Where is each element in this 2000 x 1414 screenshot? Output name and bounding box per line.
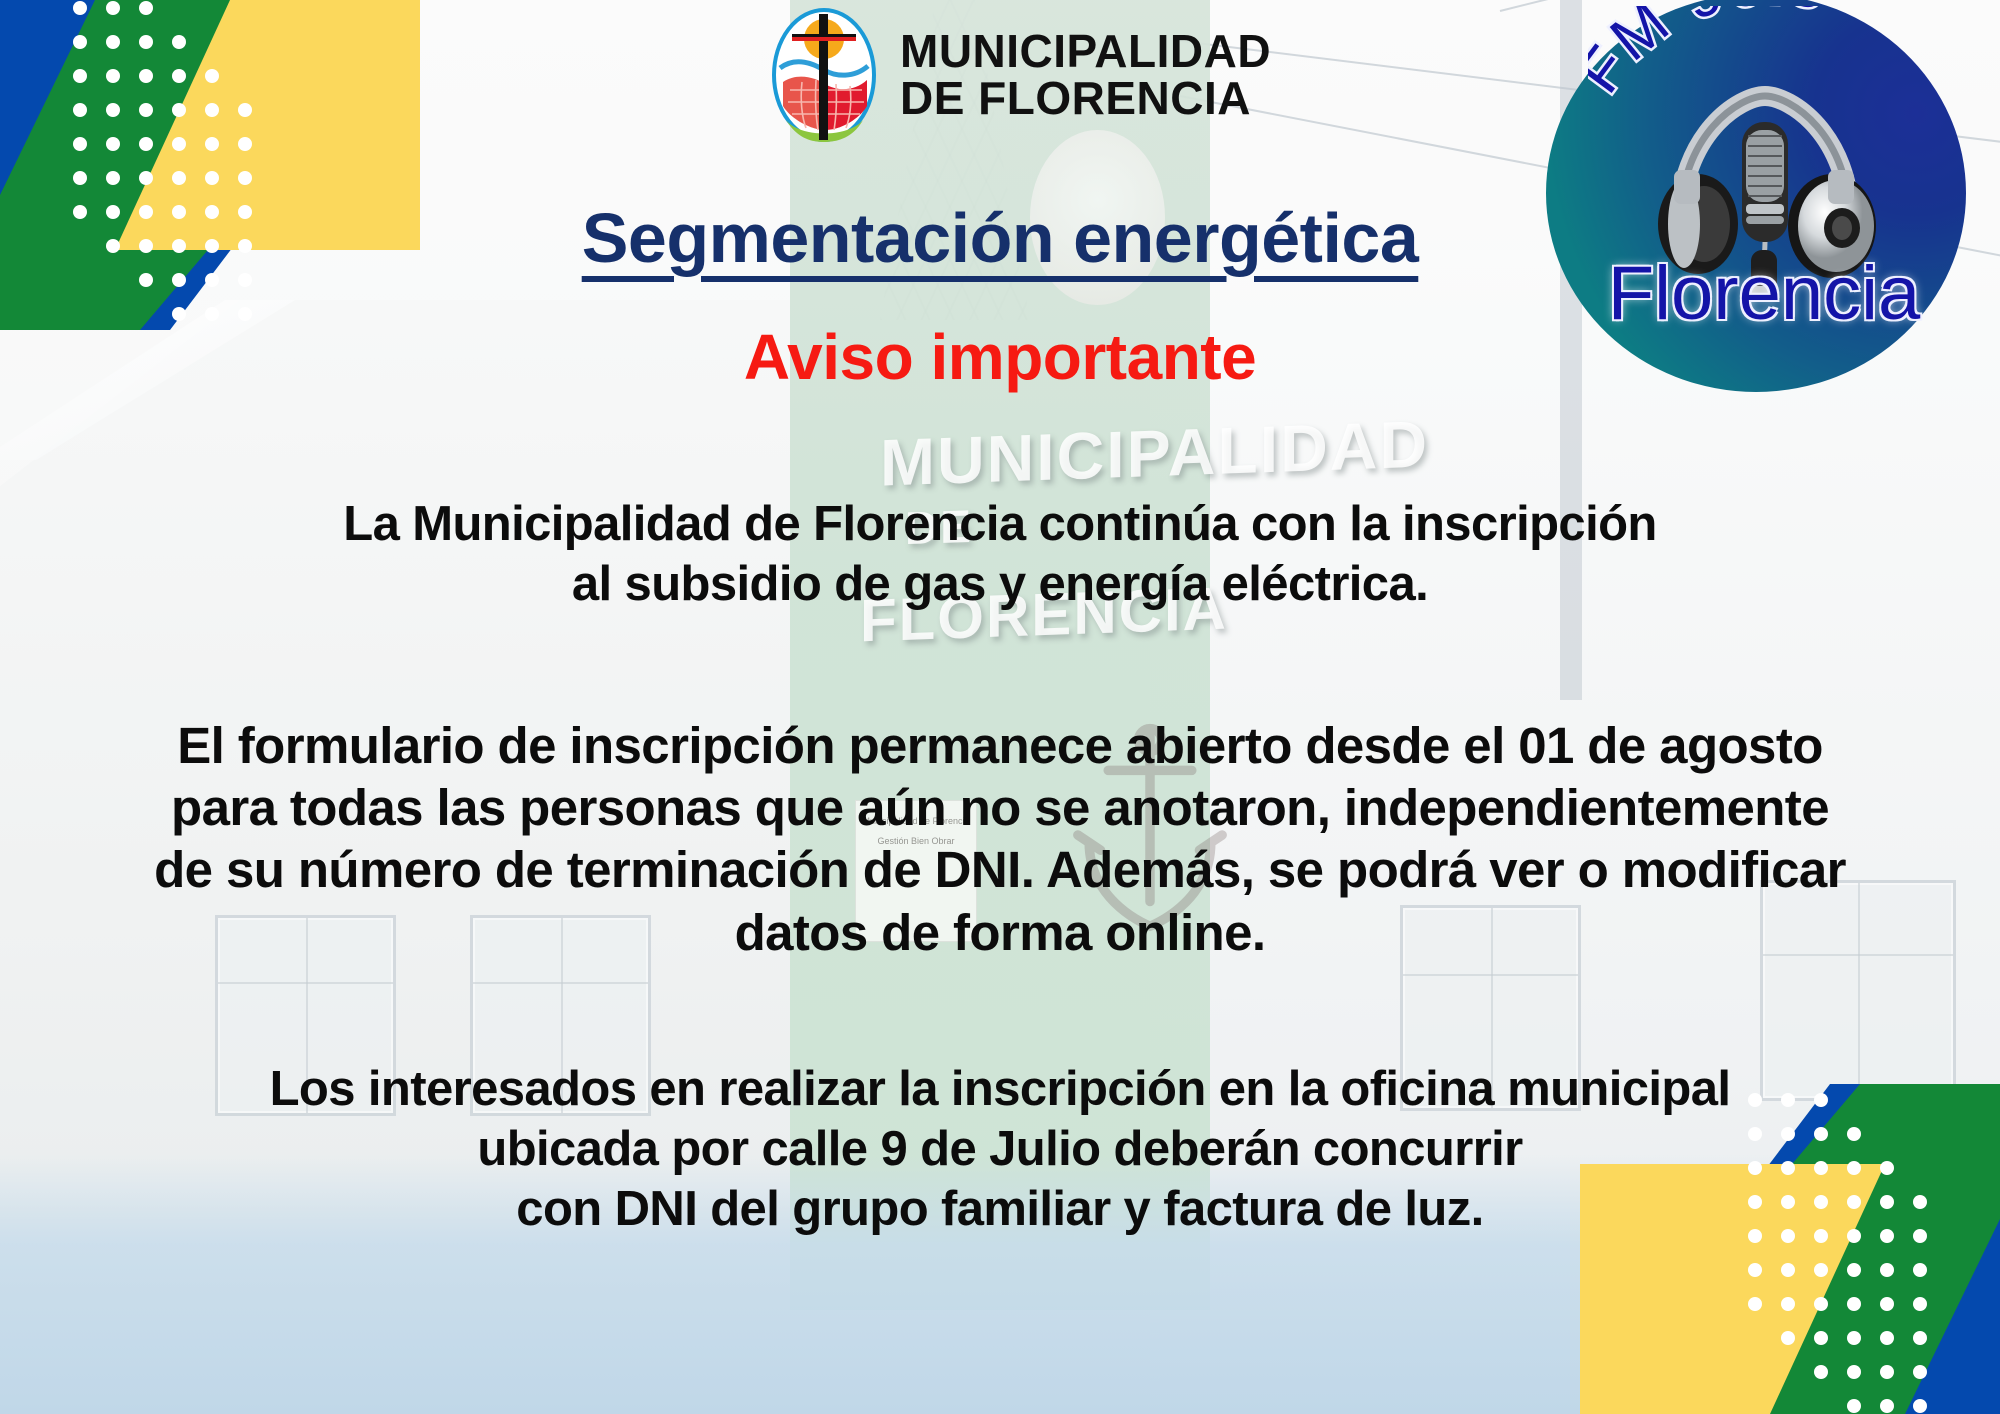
paragraph-2: El formulario de inscripción permanece a… xyxy=(0,715,2000,964)
poster-canvas: MUNICIPALIDAD DE FLORENCIA Municipalidad… xyxy=(0,0,2000,1414)
paragraph-1-line-2: al subsidio de gas y energía eléctrica. xyxy=(0,555,2000,615)
paragraph-3-line-3: con DNI del grupo familiar y factura de … xyxy=(0,1180,2000,1240)
paragraph-2-line-3: de su número de terminación de DNI. Adem… xyxy=(0,839,2000,901)
poster-text-content: Segmentación energética Aviso importante… xyxy=(0,0,2000,1414)
paragraph-2-line-1: El formulario de inscripción permanece a… xyxy=(0,715,2000,777)
paragraph-2-line-2: para todas las personas que aún no se an… xyxy=(0,777,2000,839)
paragraph-2-line-4: datos de forma online. xyxy=(0,902,2000,964)
page-subtitle: Aviso importante xyxy=(0,320,2000,394)
paragraph-1: La Municipalidad de Florencia continúa c… xyxy=(0,495,2000,615)
paragraph-3: Los interesados en realizar la inscripci… xyxy=(0,1060,2000,1239)
paragraph-1-line-1: La Municipalidad de Florencia continúa c… xyxy=(0,495,2000,555)
page-title: Segmentación energética xyxy=(0,198,2000,278)
paragraph-3-line-2: ubicada por calle 9 de Julio deberán con… xyxy=(0,1120,2000,1180)
paragraph-3-line-1: Los interesados en realizar la inscripci… xyxy=(0,1060,2000,1120)
